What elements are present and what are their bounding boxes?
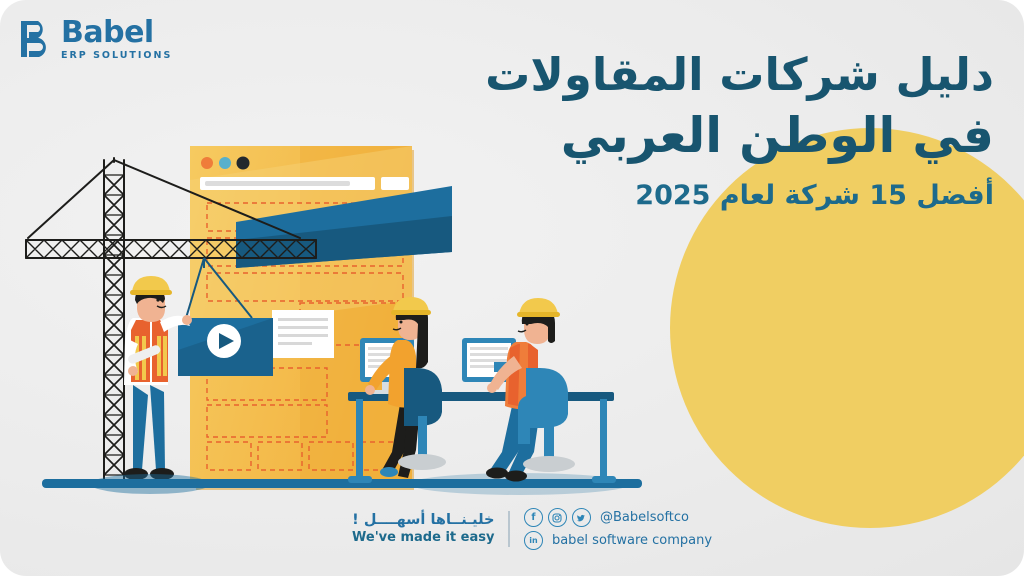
- headline-line-2: في الوطن العربي: [394, 105, 994, 166]
- headline-block: دليل شركات المقاولات في الوطن العربي أفض…: [394, 48, 994, 213]
- social-row-primary: f @Babelsoftco: [524, 508, 712, 527]
- twitter-icon[interactable]: [572, 508, 591, 527]
- tower-crane: [26, 158, 316, 485]
- tagline-english: We've made it easy: [352, 530, 494, 547]
- ground-line: [42, 473, 642, 495]
- tagline-block: خليـنــاها أسهــــل ! We've made it easy: [352, 511, 494, 546]
- footer-divider: [508, 511, 510, 547]
- social-handle-primary[interactable]: @Babelsoftco: [600, 510, 689, 525]
- play-icon: [219, 333, 234, 349]
- social-handle-secondary[interactable]: babel software company: [552, 533, 712, 548]
- linkedin-icon[interactable]: in: [524, 531, 543, 550]
- social-row-secondary: in babel software company: [524, 531, 712, 550]
- headline-line-3: أفضل 15 شركة لعام 2025: [394, 178, 994, 213]
- tagline-arabic: خليـنــاها أسهــــل !: [352, 511, 494, 529]
- facebook-icon[interactable]: f: [524, 508, 543, 527]
- desk-with-monitors: [348, 392, 616, 483]
- content-card: [272, 310, 334, 358]
- footer-bar: خليـنــاها أسهــــل ! We've made it easy…: [352, 508, 712, 550]
- logo-subtitle: ERP SOLUTIONS: [61, 51, 172, 61]
- instagram-icon[interactable]: [548, 508, 567, 527]
- headline-line-1: دليل شركات المقاولات: [394, 48, 994, 101]
- promo-banner: Babel ERP SOLUTIONS دليل شركات المقاولات…: [0, 0, 1024, 576]
- wireframe-dashed-blocks: [207, 203, 405, 470]
- seated-worker-female: [365, 297, 446, 478]
- hanging-video-card: [178, 318, 273, 376]
- monitor-left: [360, 338, 414, 394]
- crane-hoist-cables: [186, 258, 252, 318]
- browser-window-mockup: [190, 146, 414, 490]
- standing-worker-with-blueprint: [124, 276, 192, 480]
- babel-logo[interactable]: Babel ERP SOLUTIONS: [18, 18, 172, 61]
- babel-b-mark-icon: [18, 19, 52, 59]
- monitor-right: [462, 338, 516, 382]
- seated-worker-male: [486, 298, 575, 482]
- social-links: f @Babelsoftco in babel software company: [524, 508, 712, 550]
- logo-name: Babel: [61, 18, 172, 48]
